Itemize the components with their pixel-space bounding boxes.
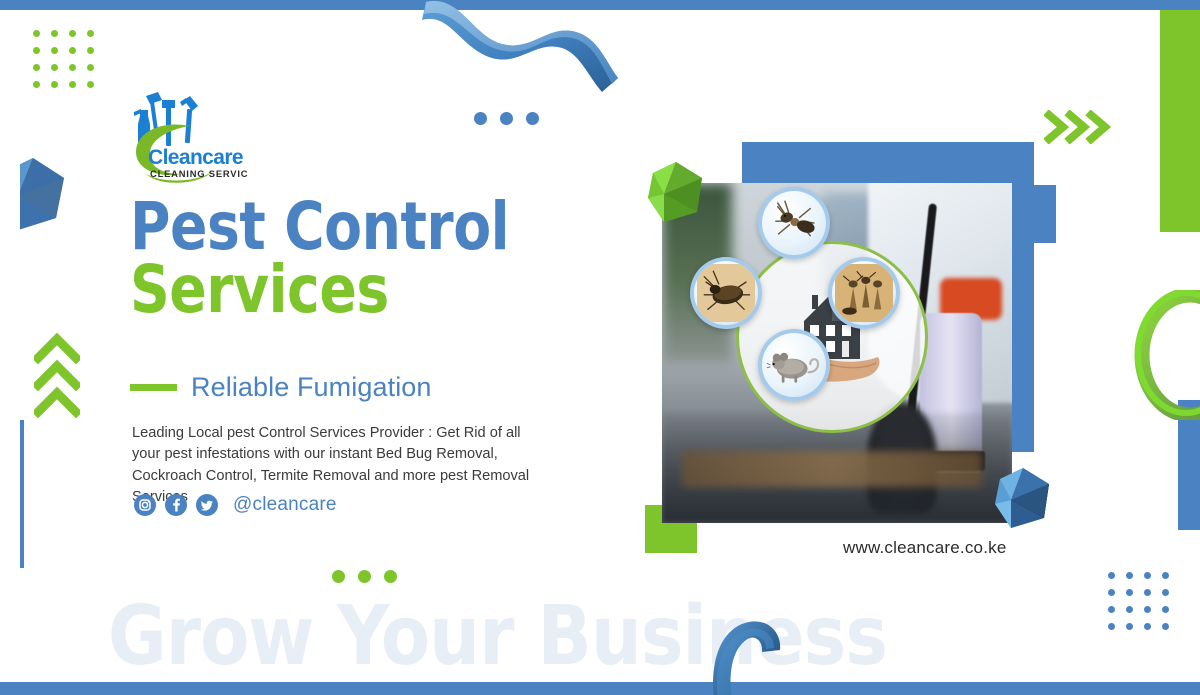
green-dot-row xyxy=(332,570,397,583)
termite-bubble xyxy=(828,257,900,329)
cleancare-logo-svg: Cleancare CLEANING SERVICES xyxy=(128,90,248,185)
right-green-bar xyxy=(1160,10,1200,232)
subheadline: Reliable Fumigation xyxy=(130,372,432,403)
svg-text:CLEANING SERVICES: CLEANING SERVICES xyxy=(150,168,248,179)
cockroach-bubble xyxy=(690,257,762,329)
instagram-icon[interactable] xyxy=(134,494,156,516)
ant-bubble xyxy=(758,187,830,259)
blue-wave-ribbon-icon xyxy=(420,0,630,100)
instagram-glyph xyxy=(134,494,156,516)
social-handle[interactable]: @cleancare xyxy=(233,494,337,516)
mouse-icon xyxy=(765,336,823,394)
blue-dot-row xyxy=(474,112,539,125)
page-title: Pest Control Services xyxy=(130,196,567,321)
pest-control-banner: Cleancare CLEANING SERVICES Pest Control… xyxy=(0,0,1200,695)
twitter-glyph xyxy=(196,494,218,516)
green-polyhedron-icon xyxy=(645,160,707,224)
facebook-icon[interactable] xyxy=(165,494,187,516)
website-url[interactable]: www.cleancare.co.ke xyxy=(843,538,1006,558)
blue-hook-ribbon-icon xyxy=(690,610,790,695)
headline-line-2: Services xyxy=(130,259,567,322)
ant-icon xyxy=(765,194,823,252)
termite-icon xyxy=(835,264,893,322)
facebook-glyph xyxy=(165,494,187,516)
cleancare-logo[interactable]: Cleancare CLEANING SERVICES xyxy=(128,90,248,185)
blue-polyhedron-bottom-icon xyxy=(992,466,1054,530)
subheadline-text: Reliable Fumigation xyxy=(191,372,432,403)
triple-chevron-right-icon xyxy=(1044,110,1112,144)
svg-text:Cleancare: Cleancare xyxy=(148,146,243,169)
twitter-icon[interactable] xyxy=(196,494,218,516)
green-dot-grid xyxy=(33,30,105,98)
left-white-margin xyxy=(0,10,20,682)
photo-step xyxy=(682,451,982,487)
triple-chevron-up-icon xyxy=(34,332,80,418)
photo-back-blue-top xyxy=(742,142,1034,186)
rodent-bubble xyxy=(758,329,830,401)
headline-line-1: Pest Control xyxy=(130,196,567,259)
green-ring-icon xyxy=(1128,290,1200,420)
green-dash-icon xyxy=(130,384,177,391)
pest-control-photo xyxy=(662,183,1012,523)
cockroach-icon xyxy=(697,264,755,322)
social-links: @cleancare xyxy=(134,494,337,516)
blue-dot-grid xyxy=(1108,572,1180,640)
